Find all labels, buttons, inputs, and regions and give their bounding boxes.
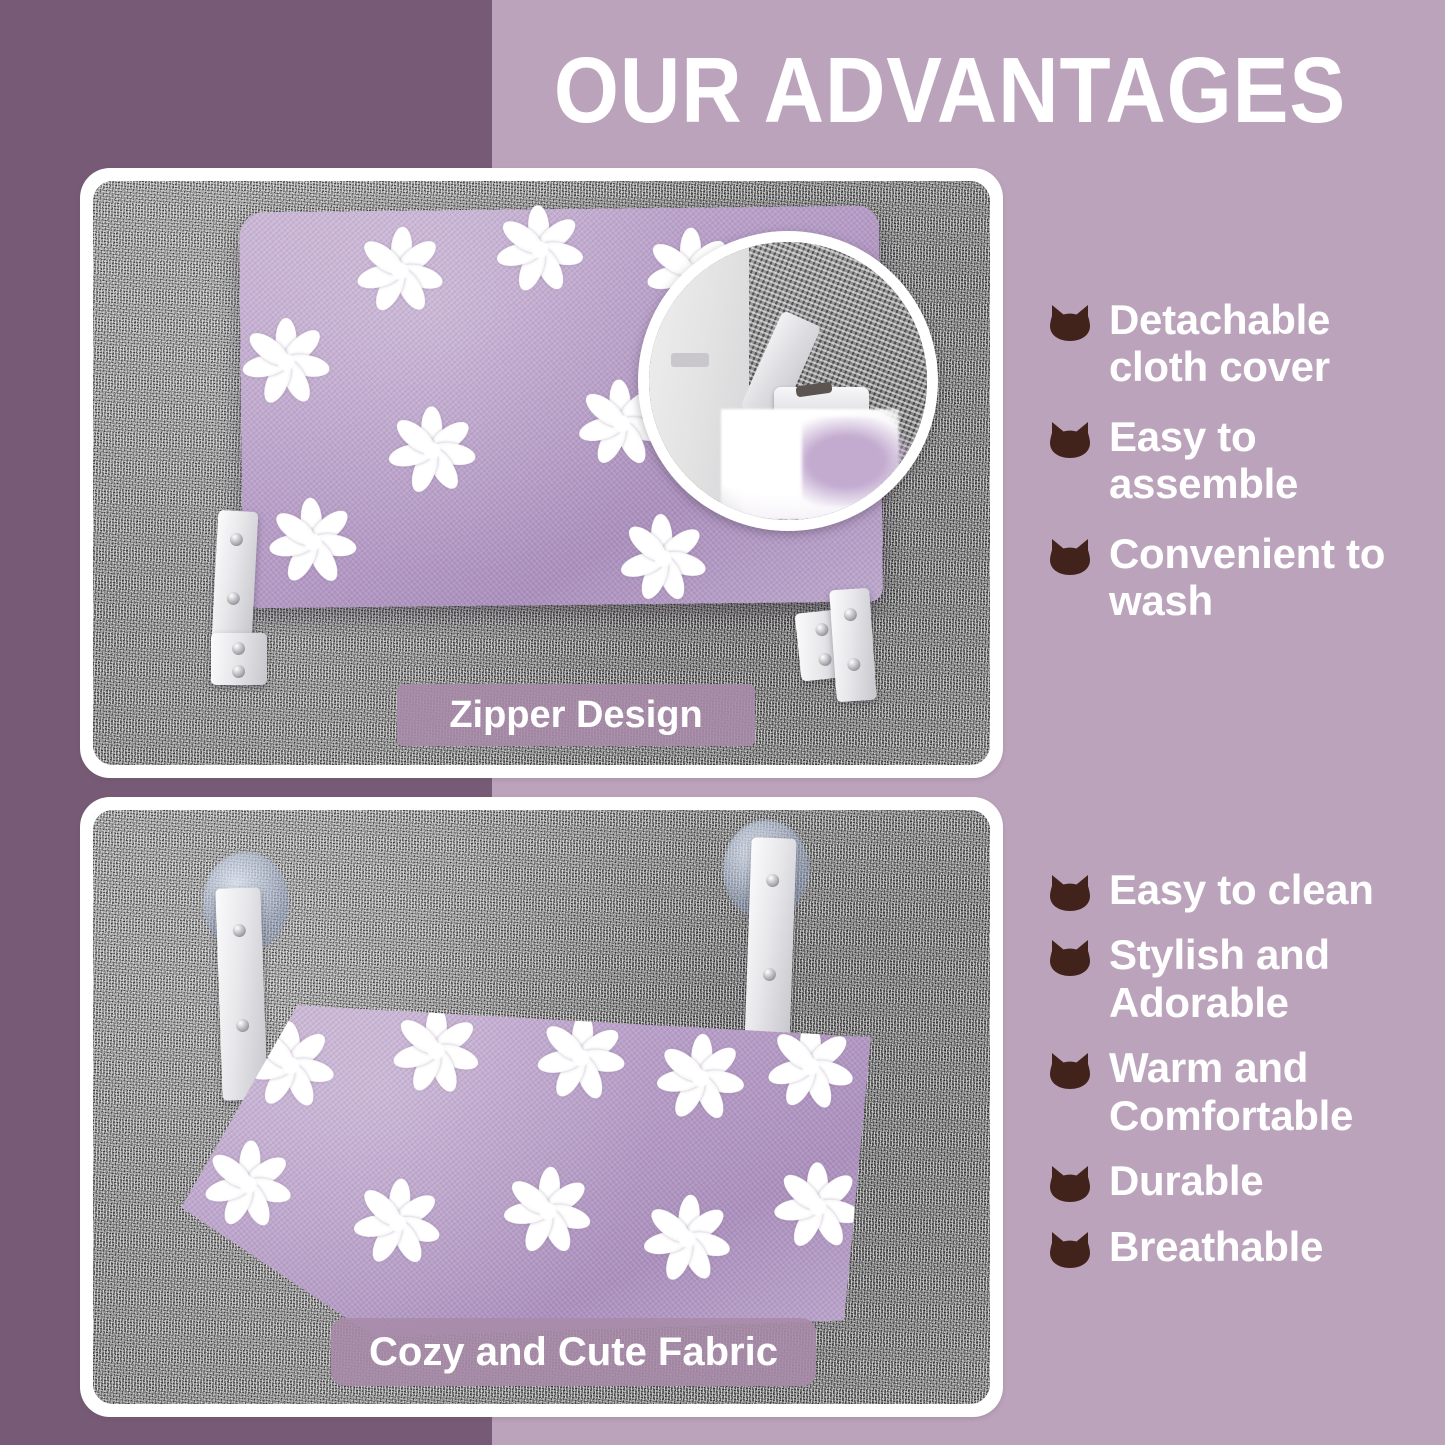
flower-motif [235,311,336,412]
advantage-item: Convenient to wash [1049,530,1439,625]
advantage-item: Durable [1049,1157,1439,1204]
advantage-item: Stylish and Adorable [1049,931,1439,1026]
advantage-label: Warm and Comfortable [1109,1044,1439,1139]
advantage-item: Breathable [1049,1223,1439,1270]
flower-motif [612,507,713,608]
zipper-zoom-callout [638,231,938,531]
flower-motif [636,1188,738,1290]
wall-mount-bracket [829,588,877,703]
cat-head-icon [1049,874,1091,912]
flower-motif [649,1027,751,1129]
advantage-label: Breathable [1109,1223,1323,1270]
flower-motif [496,1160,598,1262]
cat-head-icon [1049,538,1091,576]
advantage-item: Easy to clean [1049,866,1439,913]
cat-head-icon [1049,1165,1091,1203]
flower-motif [489,199,590,300]
caption-cozy-fabric: Cozy and Cute Fabric [331,1318,816,1386]
advantage-label: Stylish and Adorable [1109,931,1439,1026]
cozy-fabric-photo-panel: Cozy and Cute Fabric [80,797,1003,1417]
advantages-poster: OUR ADVANTAGES [0,0,1445,1445]
cat-head-icon [1049,1052,1091,1090]
cat-head-icon [1049,304,1091,342]
advantage-label: Convenient to wash [1109,530,1439,625]
cat-head-icon [1049,421,1091,459]
advantage-item: Warm and Comfortable [1049,1044,1439,1139]
advantage-label: Easy to clean [1109,866,1374,913]
cozy-fabric-photo: Cozy and Cute Fabric [93,810,990,1404]
flower-motif [262,491,363,592]
zipper-design-photo: Zipper Design [93,181,990,765]
wall-mount-bracket [212,510,259,642]
advantages-list-bottom: Easy to cleanStylish and AdorableWarm an… [1049,866,1439,1288]
flower-motif [346,1171,448,1273]
flower-motif [381,400,482,501]
advantage-label: Detachable cloth cover [1109,296,1439,391]
bracket-clamp [211,633,267,685]
advantage-label: Easy to assemble [1109,413,1439,508]
advantage-item: Detachable cloth cover [1049,296,1439,391]
wall-mount-bracket [215,887,267,1100]
caption-zipper-design: Zipper Design [397,684,755,746]
cat-head-icon [1049,1231,1091,1269]
wall-mount-bracket [744,837,796,1048]
zipper-design-photo-panel: Zipper Design [80,168,1003,778]
page-title: OUR ADVANTAGES [545,44,1355,137]
zoom-lavender-fabric [802,417,913,506]
flower-motif [349,220,450,321]
cat-head-icon [1049,939,1091,977]
advantages-list-top: Detachable cloth coverEasy to assembleCo… [1049,296,1439,647]
advantage-label: Durable [1109,1157,1263,1204]
advantage-item: Easy to assemble [1049,413,1439,508]
